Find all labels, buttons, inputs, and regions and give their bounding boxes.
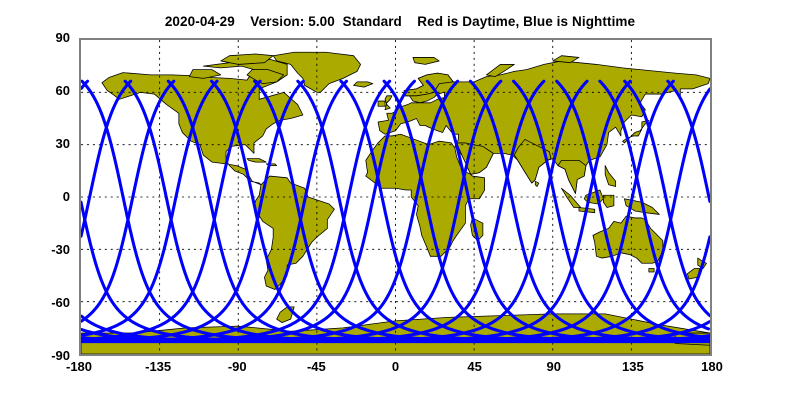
y-axis-tick-30: 30 xyxy=(14,136,70,151)
world-map-svg xyxy=(81,40,710,354)
x-axis-tick--180: -180 xyxy=(49,359,109,374)
x-axis-tick-135: 135 xyxy=(603,359,663,374)
land-ireland xyxy=(378,101,385,106)
y-axis-tick--30: -30 xyxy=(14,242,70,257)
y-axis-tick-0: 0 xyxy=(14,189,70,204)
x-axis-tick-90: 90 xyxy=(524,359,584,374)
land-victoria xyxy=(189,70,220,79)
y-axis-tick-60: 60 xyxy=(14,83,70,98)
x-axis-tick-0: 0 xyxy=(366,359,426,374)
land-tasmania xyxy=(649,269,654,272)
land-britain xyxy=(385,96,392,110)
page-title: 2020-04-29 Version: 5.00 Standard Red is… xyxy=(0,14,800,29)
map-clip xyxy=(81,40,710,354)
x-axis-tick--45: -45 xyxy=(286,359,346,374)
x-axis-tick-180: 180 xyxy=(682,359,742,374)
ground-track-asc-1 xyxy=(81,202,248,340)
land-sri-lanka xyxy=(535,181,538,186)
x-axis-tick--135: -135 xyxy=(128,359,188,374)
land-svalbard xyxy=(413,57,439,64)
x-axis-tick-45: 45 xyxy=(445,359,505,374)
x-axis-tick--90: -90 xyxy=(207,359,267,374)
y-axis-tick--60: -60 xyxy=(14,295,70,310)
land-cuba xyxy=(247,159,266,162)
ground-track-desc-8 xyxy=(81,81,131,236)
land-severnaya xyxy=(553,56,579,63)
y-axis-tick-90: 90 xyxy=(14,30,70,45)
land-iceland xyxy=(354,82,373,87)
land-sumatra xyxy=(561,188,580,207)
map-plot-area xyxy=(79,38,712,356)
land-philippines xyxy=(605,166,615,187)
